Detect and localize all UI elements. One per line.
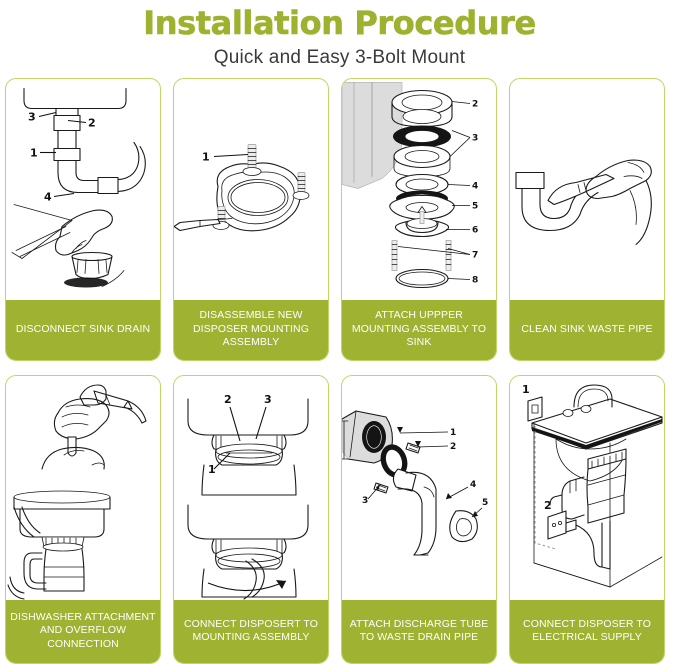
exploded-sink-flange-figure: 2 3 4 5 6 7 8 xyxy=(342,79,496,300)
callout-7: 7 xyxy=(472,251,478,261)
callout-1: 1 xyxy=(522,383,530,396)
callout-3: 3 xyxy=(264,393,272,406)
step-caption-4: CLEAN SINK WASTE PIPE xyxy=(510,300,664,360)
step-card-7[interactable]: 1 2 3 4 5 ATTACH DISCHARGE T xyxy=(341,375,497,664)
sink-drain-ptrap-figure: 3 2 1 4 xyxy=(6,79,160,300)
step-card-6[interactable]: 2 3 1 xyxy=(173,375,329,664)
connect-disposer-figure: 2 3 1 xyxy=(174,376,328,600)
dishwasher-knockout-figure xyxy=(6,376,160,600)
callout-4: 4 xyxy=(470,480,476,490)
step-caption-8: CONNECT DISPOSER TO ELECTRICAL SUPPLY xyxy=(510,600,664,663)
callout-1: 1 xyxy=(202,151,210,164)
step-card-2[interactable]: 1 DISASSEMBLE NEW DISPOSER MOUNTING ASSE… xyxy=(173,78,329,361)
callout-5: 5 xyxy=(482,498,488,508)
step-caption-1: DISCONNECT SINK DRAIN xyxy=(6,300,160,360)
callout-8: 8 xyxy=(472,276,478,286)
callout-2: 2 xyxy=(472,100,478,110)
clean-waste-pipe-figure xyxy=(510,79,664,300)
callout-4: 4 xyxy=(44,191,52,204)
callout-4: 4 xyxy=(472,182,478,192)
callout-2: 2 xyxy=(450,442,456,452)
electrical-supply-figure: 1 2 xyxy=(510,376,664,600)
callout-3: 3 xyxy=(472,134,478,144)
step-caption-2: DISASSEMBLE NEW DISPOSER MOUNTING ASSEMB… xyxy=(174,300,328,360)
callout-2: 2 xyxy=(88,117,96,130)
steps-row-bottom: DISHWASHER ATTACHMENT AND OVERFLOW CONNE… xyxy=(0,375,679,664)
step-caption-3: ATTACH UPPPER MOUNTING ASSEMBLY TO SINK xyxy=(342,300,496,360)
mounting-assembly-figure: 1 xyxy=(174,79,328,300)
step-card-5[interactable]: DISHWASHER ATTACHMENT AND OVERFLOW CONNE… xyxy=(5,375,161,664)
page-subtitle: Quick and Easy 3-Bolt Mount xyxy=(0,45,679,71)
callout-1: 1 xyxy=(208,463,216,476)
step-caption-5: DISHWASHER ATTACHMENT AND OVERFLOW CONNE… xyxy=(6,600,160,663)
step-card-4[interactable]: CLEAN SINK WASTE PIPE xyxy=(509,78,665,361)
callout-6: 6 xyxy=(472,226,478,236)
step-card-8[interactable]: 1 2 CONNECT DISPOSER TO ELECTRICAL SUPPL… xyxy=(509,375,665,664)
callout-3: 3 xyxy=(362,496,368,506)
steps-row-top: 3 2 1 4 xyxy=(0,78,679,361)
step-card-1[interactable]: 3 2 1 4 xyxy=(5,78,161,361)
callout-1: 1 xyxy=(450,428,456,438)
callout-2: 2 xyxy=(224,393,232,406)
step-caption-6: CONNECT DISPOSERT TO MOUNTING ASSEMBLY xyxy=(174,600,328,663)
page-header: Installation Procedure Quick and Easy 3-… xyxy=(0,0,679,71)
step-card-3[interactable]: 2 3 4 5 6 7 8 ATTAC xyxy=(341,78,497,361)
callout-3: 3 xyxy=(28,111,36,124)
discharge-tube-figure: 1 2 3 4 5 xyxy=(342,376,496,600)
step-caption-7: ATTACH DISCHARGE TUBE TO WASTE DRAIN PIP… xyxy=(342,600,496,663)
page-title: Installation Procedure xyxy=(0,4,679,42)
callout-5: 5 xyxy=(472,202,478,212)
callout-1: 1 xyxy=(30,147,38,160)
steps-grid: 3 2 1 4 xyxy=(0,78,679,664)
callout-2: 2 xyxy=(544,499,552,512)
